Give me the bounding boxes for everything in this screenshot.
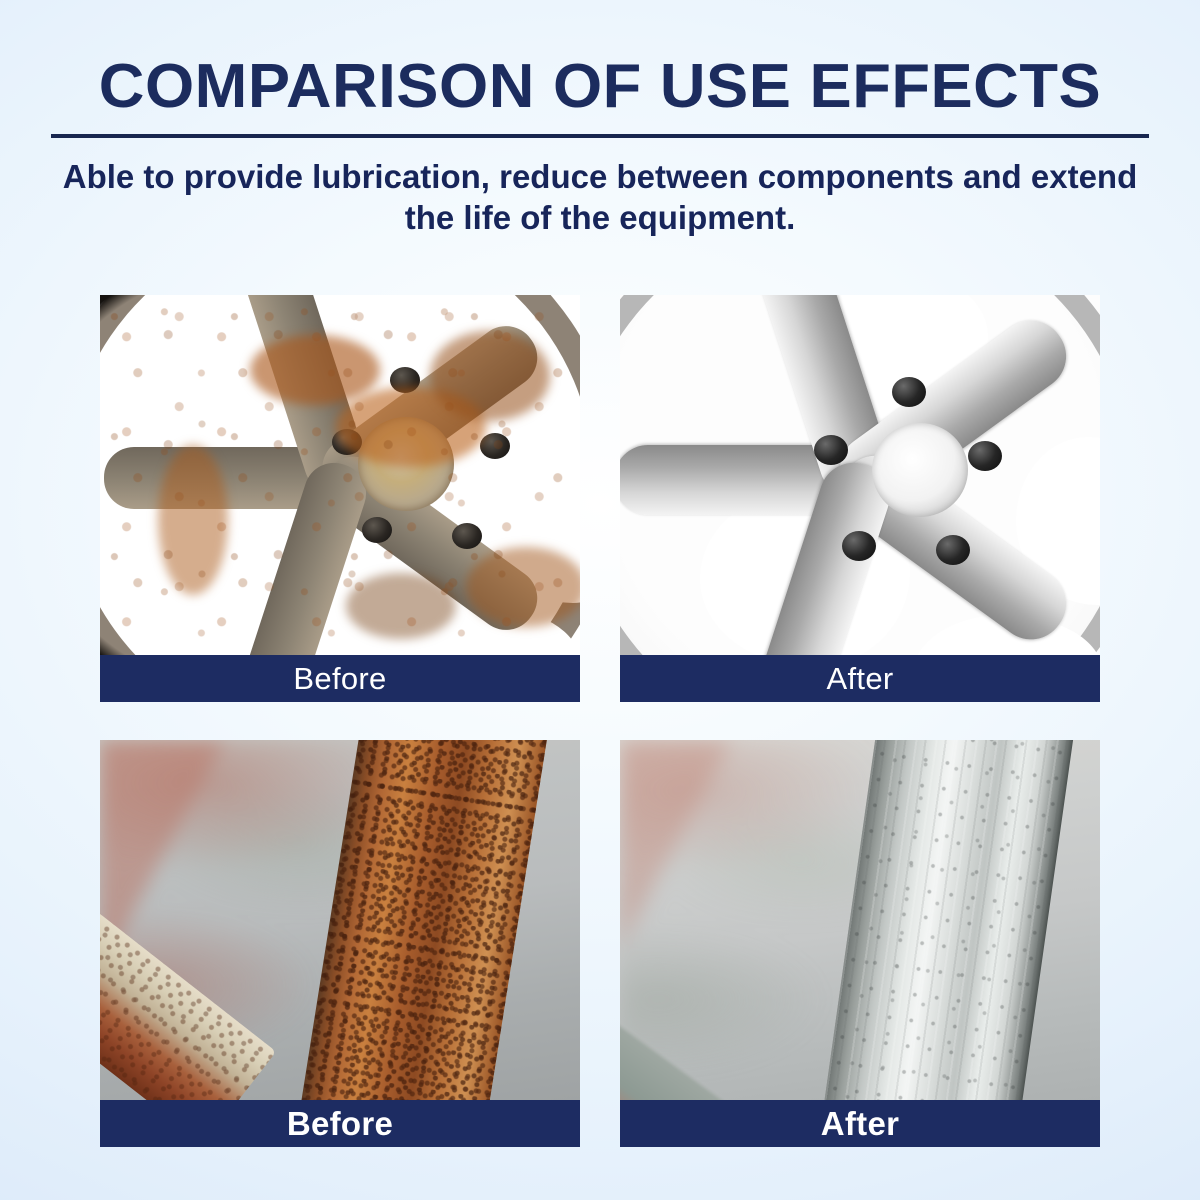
comparison-panel-wheel-after: After (620, 295, 1100, 702)
rusty-wheel-illustration (100, 295, 580, 655)
photo-rusty-pipes (100, 740, 580, 1100)
photo-clean-wheel (620, 295, 1100, 655)
photo-clean-pipe (620, 740, 1100, 1100)
wheel-lug-nut (842, 531, 876, 561)
panel-label-after-wheel: After (620, 655, 1100, 702)
photo-rusty-wheel (100, 295, 580, 655)
wheel-lug-nut (968, 441, 1002, 471)
page-subtitle: Able to provide lubrication, reduce betw… (55, 156, 1145, 239)
comparison-panel-pipe-before: Before (100, 740, 580, 1147)
title-divider (51, 134, 1149, 138)
page-title: COMPARISON OF USE EFFECTS (37, 56, 1163, 118)
clean-wheel-illustration (620, 295, 1100, 655)
panel-label-before-pipe: Before (100, 1100, 580, 1147)
comparison-panel-pipe-after: After (620, 740, 1100, 1147)
rusty-pipes-illustration (100, 740, 580, 1100)
comparison-panel-wheel-before: Before (100, 295, 580, 702)
comparison-grid: Before After (100, 295, 1100, 1147)
panel-label-before-wheel: Before (100, 655, 580, 702)
wheel-lug-nut (892, 377, 926, 407)
clean-pipe-illustration (620, 740, 1100, 1100)
wheel-lug-nut (814, 435, 848, 465)
tire-edge (100, 295, 282, 655)
wheel-hub-cap (872, 423, 968, 517)
header: COMPARISON OF USE EFFECTS Able to provid… (0, 0, 1200, 239)
panel-label-after-pipe: After (620, 1100, 1100, 1147)
wheel-lug-nut (936, 535, 970, 565)
